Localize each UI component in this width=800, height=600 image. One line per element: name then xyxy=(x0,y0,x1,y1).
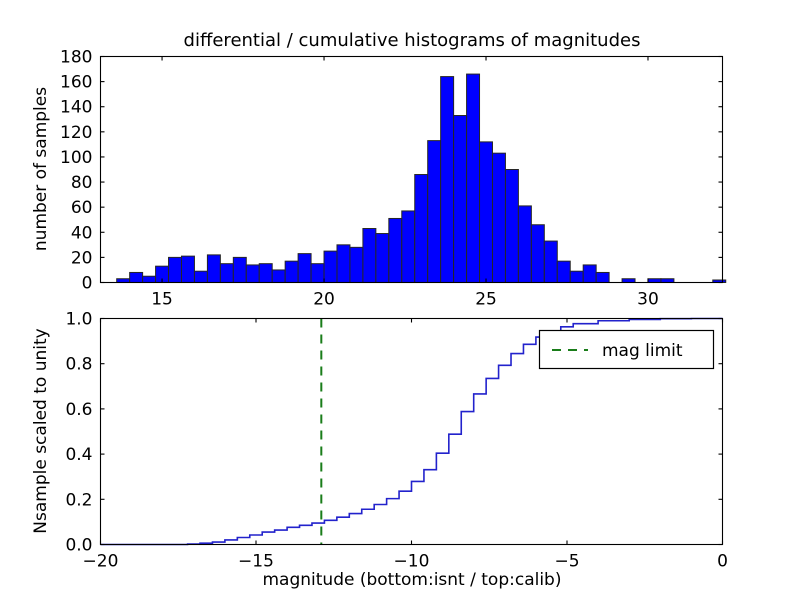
histogram-bar xyxy=(285,261,298,282)
histogram-bar xyxy=(570,271,583,282)
top-plot-axes: 15202530 020406080100120140160180 number… xyxy=(31,48,726,310)
histogram-bar xyxy=(544,241,557,282)
histogram-bar xyxy=(596,272,609,282)
x-axis-label: magnitude (bottom:isnt / top:calib) xyxy=(263,570,562,590)
top-y-tick-label: 40 xyxy=(71,223,93,243)
histogram-bar xyxy=(467,74,480,282)
top-x-tick-label: 30 xyxy=(637,290,659,310)
histogram-bar xyxy=(311,264,324,283)
top-y-axis-label: number of samples xyxy=(31,87,51,251)
histogram-bar xyxy=(143,276,156,282)
histogram-bar xyxy=(298,254,311,283)
histogram-bar xyxy=(428,141,441,283)
histogram-bar xyxy=(350,247,363,282)
bottom-y-axis-label: Nsample scaled to unity xyxy=(31,328,51,533)
histogram-bar xyxy=(117,279,130,283)
histogram-bar xyxy=(648,279,661,283)
figure-canvas: differential / cumulative histograms of … xyxy=(0,0,800,600)
histogram-bar xyxy=(492,153,505,282)
top-y-tick-labels: 020406080100120140160180 xyxy=(60,48,92,294)
legend[interactable]: mag limit xyxy=(540,331,714,369)
histogram-bar xyxy=(363,229,376,283)
histogram-bar xyxy=(402,211,415,283)
histogram-bar xyxy=(259,264,272,283)
bottom-x-tick-labels: −20−15−10−50 xyxy=(83,552,728,572)
top-y-tick-label: 20 xyxy=(71,248,93,268)
top-y-tick-label: 60 xyxy=(71,198,93,218)
top-y-tick-label: 160 xyxy=(60,73,92,93)
bottom-x-tick-label: −5 xyxy=(554,552,579,572)
histogram-bar xyxy=(130,272,143,282)
histogram-bar xyxy=(505,170,518,283)
histogram-bar xyxy=(169,257,182,282)
histogram-bar xyxy=(622,279,635,283)
histogram-bar xyxy=(389,218,402,282)
top-x-tick-label: 15 xyxy=(151,290,173,310)
top-y-tick-label: 0 xyxy=(82,274,93,294)
histogram-bar xyxy=(376,234,389,283)
top-y-tick-label: 120 xyxy=(60,123,92,143)
bottom-x-tick-label: −10 xyxy=(394,552,430,572)
histogram-bars xyxy=(117,74,726,282)
bottom-y-tick-label: 0.0 xyxy=(65,536,92,556)
histogram-bar xyxy=(518,206,531,283)
histogram-bar xyxy=(557,261,570,282)
top-y-tick-label: 180 xyxy=(60,48,92,68)
histogram-bar xyxy=(246,265,259,283)
histogram-bar xyxy=(220,264,233,283)
histogram-bar xyxy=(337,245,350,283)
bottom-y-tick-label: 1.0 xyxy=(65,310,92,330)
bottom-y-tick-labels: 0.00.20.40.60.81.0 xyxy=(65,310,92,556)
bottom-x-tick-label: −15 xyxy=(238,552,274,572)
top-x-tick-label: 20 xyxy=(313,290,335,310)
chart-title: differential / cumulative histograms of … xyxy=(184,30,641,51)
histogram-bar xyxy=(480,142,493,283)
histogram-bar xyxy=(207,255,220,283)
histogram-bar xyxy=(272,270,285,283)
histogram-bar xyxy=(233,257,246,282)
histogram-bar xyxy=(441,77,454,283)
top-x-tick-label: 25 xyxy=(475,290,497,310)
top-y-tick-label: 140 xyxy=(60,98,92,118)
histogram-bar xyxy=(661,279,674,283)
histogram-bar xyxy=(194,271,207,282)
top-x-tick-labels: 15202530 xyxy=(151,290,659,310)
histogram-bar xyxy=(531,225,544,283)
histogram-bar xyxy=(454,116,467,283)
bottom-y-tick-label: 0.8 xyxy=(65,355,92,375)
histogram-bar xyxy=(324,251,337,282)
histogram-bar xyxy=(181,256,194,282)
bottom-x-tick-label: 0 xyxy=(717,552,728,572)
histogram-bar xyxy=(415,175,428,283)
top-y-tick-label: 80 xyxy=(71,173,93,193)
bottom-plot-axes: −20−15−10−50 0.00.20.40.60.81.0 Nsample … xyxy=(31,310,728,591)
legend-label-mag-limit: mag limit xyxy=(602,341,683,361)
top-y-tick-label: 100 xyxy=(60,148,92,168)
bottom-y-tick-label: 0.2 xyxy=(65,490,92,510)
bottom-y-tick-label: 0.4 xyxy=(65,445,92,465)
bottom-y-tick-label: 0.6 xyxy=(65,400,92,420)
histogram-bar xyxy=(583,265,596,283)
